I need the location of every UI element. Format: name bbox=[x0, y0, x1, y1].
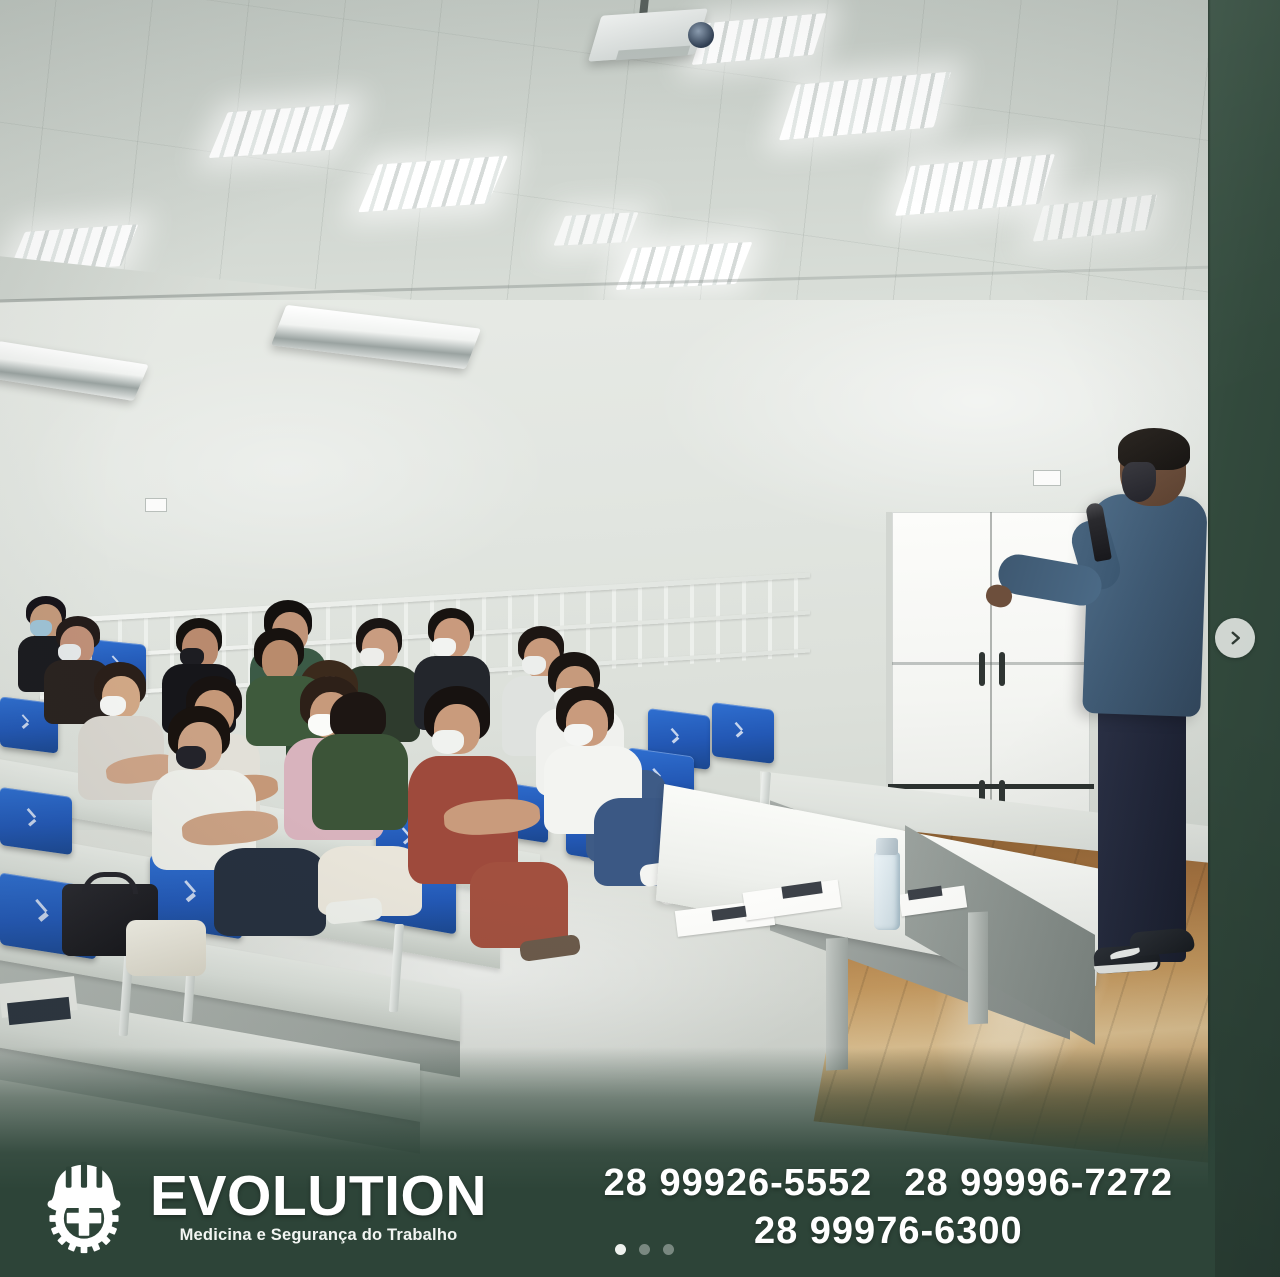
sanitizer-pump bbox=[876, 838, 898, 855]
blue-auditorium-seat bbox=[0, 787, 72, 855]
wall-sign bbox=[145, 498, 167, 512]
wall-sign bbox=[1033, 470, 1061, 486]
white-double-doors bbox=[892, 512, 1090, 814]
door-handle bbox=[999, 652, 1005, 686]
door-kick-plate bbox=[888, 784, 1094, 789]
phone-row-secondary: 28 99976-6300 bbox=[754, 1209, 1023, 1253]
hard-hat-gear-cross-icon bbox=[36, 1159, 132, 1255]
carousel-dot-indicators bbox=[615, 1244, 674, 1255]
brand-text-block: EVOLUTION Medicina e Segurança do Trabal… bbox=[150, 1169, 487, 1246]
presenter-legs bbox=[1098, 700, 1186, 962]
phone-number[interactable]: 28 99996-7272 bbox=[904, 1161, 1173, 1205]
brand-footer-band: EVOLUTION Medicina e Segurança do Trabal… bbox=[0, 1047, 1215, 1277]
door-handle bbox=[979, 652, 985, 686]
carousel-next-button[interactable] bbox=[1215, 618, 1255, 658]
chevron-right-icon bbox=[1226, 629, 1244, 647]
hand-sanitizer-bottle bbox=[874, 852, 900, 930]
instagram-carousel-post: EVOLUTION Medicina e Segurança do Trabal… bbox=[0, 0, 1280, 1277]
fluorescent-light-panel bbox=[553, 212, 638, 246]
footer-content: EVOLUTION Medicina e Segurança do Trabal… bbox=[0, 1135, 1215, 1277]
blue-auditorium-seat bbox=[712, 702, 774, 764]
phone-number[interactable]: 28 99976-6300 bbox=[754, 1209, 1023, 1253]
phone-row-primary: 28 99926-5552 28 99996-7272 bbox=[604, 1161, 1173, 1205]
projector-lens bbox=[688, 22, 714, 48]
carousel-dot-3[interactable] bbox=[663, 1244, 674, 1255]
tote-bag bbox=[126, 920, 206, 976]
brand-tagline: Medicina e Segurança do Trabalho bbox=[150, 1226, 487, 1245]
carousel-dot-2[interactable] bbox=[639, 1244, 650, 1255]
brand-lockup: EVOLUTION Medicina e Segurança do Trabal… bbox=[36, 1159, 487, 1255]
carousel-dot-1[interactable] bbox=[615, 1244, 626, 1255]
door-rail bbox=[892, 662, 1090, 665]
table-leg bbox=[968, 911, 988, 1024]
contact-phone-list: 28 99926-5552 28 99996-7272 28 99976-630… bbox=[604, 1161, 1173, 1253]
phone-number[interactable]: 28 99926-5552 bbox=[604, 1161, 873, 1205]
brand-name: EVOLUTION bbox=[150, 1169, 487, 1224]
